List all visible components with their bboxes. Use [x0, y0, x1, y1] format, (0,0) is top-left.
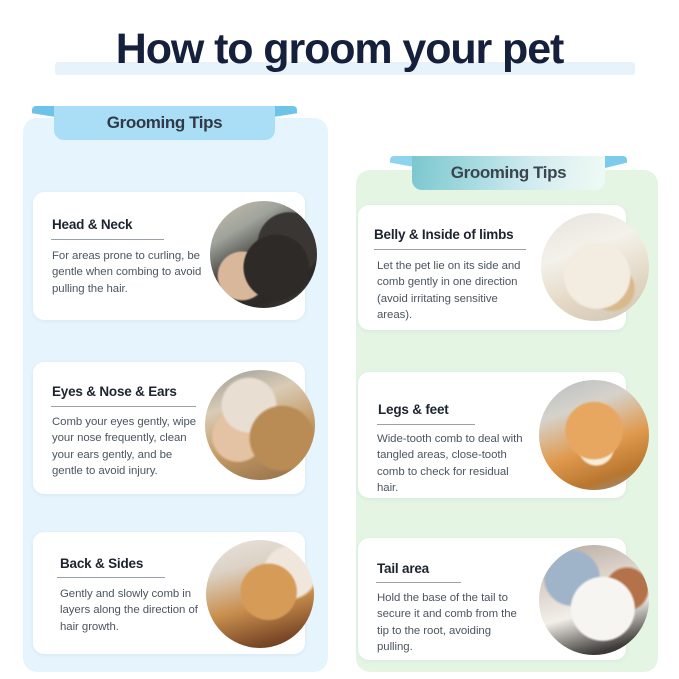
orange-cat-brushing-photo	[206, 540, 314, 648]
page-title-block: How to groom your pet	[0, 22, 679, 84]
tip-card-rule	[51, 239, 164, 240]
tip-card-body: For areas prone to curling, be gentle wh…	[52, 248, 204, 297]
yorkshire-terrier-comb-photo	[205, 370, 315, 480]
tip-card-body: Comb your eyes gently, wipe your nose fr…	[52, 414, 204, 480]
tip-card-heading: Head & Neck	[52, 217, 132, 232]
ribbon-label-left: Grooming Tips	[32, 106, 297, 140]
tip-card-rule	[51, 406, 196, 407]
tip-card-rule	[57, 577, 165, 578]
pomeranian-legs-comb-photo	[539, 380, 649, 490]
tip-card-heading: Legs & feet	[378, 402, 449, 417]
infographic-page: How to groom your pet Grooming Tips Head…	[0, 0, 679, 679]
tip-card-body: Wide-tooth comb to deal with tangled are…	[377, 431, 532, 497]
tip-card-body: Let the pet lie on its side and comb gen…	[377, 258, 529, 324]
pet-belly-fur-comb-photo	[541, 213, 649, 321]
ribbon-header-left: Grooming Tips	[32, 106, 297, 140]
tip-card-heading: Eyes & Nose & Ears	[52, 384, 177, 399]
tip-card-rule	[377, 424, 475, 425]
pomeranian-tail-grooming-photo	[539, 545, 649, 655]
tip-card-body: Hold the base of the tail to secure it a…	[377, 590, 529, 656]
ribbon-label-right: Grooming Tips	[390, 156, 627, 190]
tip-card-body: Gently and slowly comb in layers along t…	[60, 586, 212, 635]
tip-card-rule	[376, 582, 461, 583]
ribbon-header-right: Grooming Tips	[390, 156, 627, 190]
poodle-head-grooming-photo	[210, 201, 317, 308]
tip-card-heading: Tail area	[377, 561, 429, 576]
page-title: How to groom your pet	[0, 22, 679, 76]
tip-card-rule	[374, 249, 526, 250]
tip-card-heading: Back & Sides	[60, 556, 143, 571]
tip-card-heading: Belly & Inside of limbs	[374, 227, 513, 242]
